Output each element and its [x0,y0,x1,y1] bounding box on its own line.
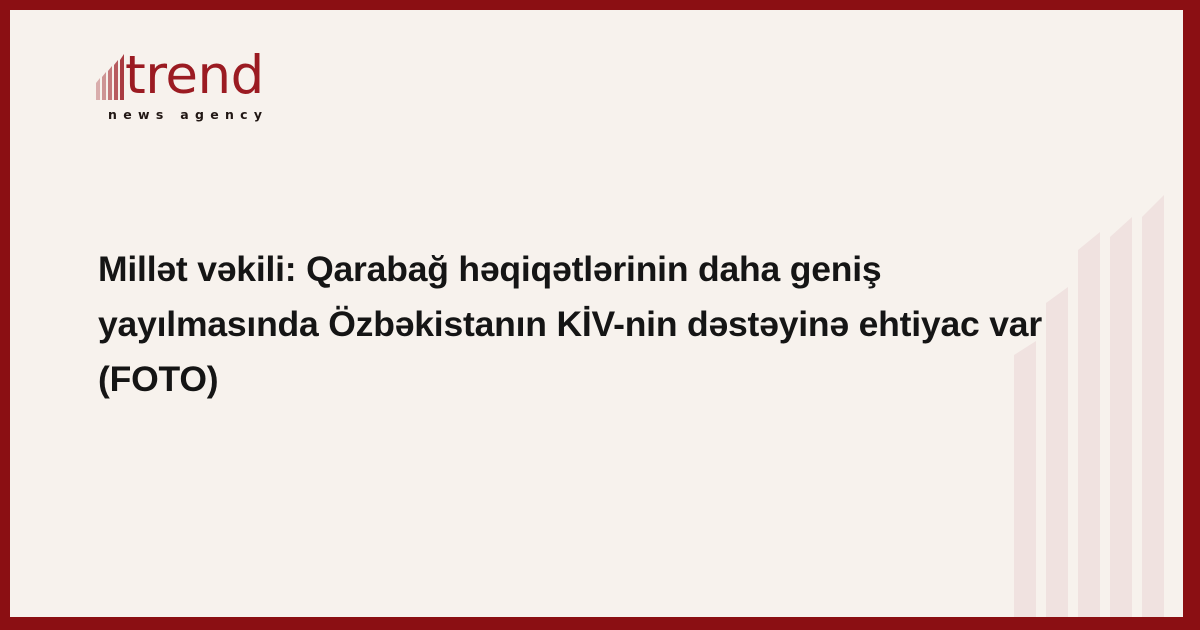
watermark-bar [1110,217,1132,617]
trend-logo[interactable]: trend news agency [96,48,296,122]
logo-bar [96,78,100,100]
watermark-bar [1078,232,1100,617]
share-card: trend news agency Millət vəkili: Qarabağ… [0,0,1200,630]
card-canvas: trend news agency Millət vəkili: Qarabağ… [10,10,1183,617]
logo-bar [114,60,118,100]
trend-ascending-bars-icon [96,52,124,100]
logo-bar [120,54,124,100]
logo-wordmark: trend [125,52,264,100]
watermark-bar [1142,195,1164,617]
logo-row: trend [96,48,296,100]
page-title: Millət vəkili: Qarabağ həqiqətlərinin da… [98,242,1058,407]
logo-bar [102,72,106,100]
logo-bar [108,66,112,100]
logo-tagline: news agency [108,107,296,122]
